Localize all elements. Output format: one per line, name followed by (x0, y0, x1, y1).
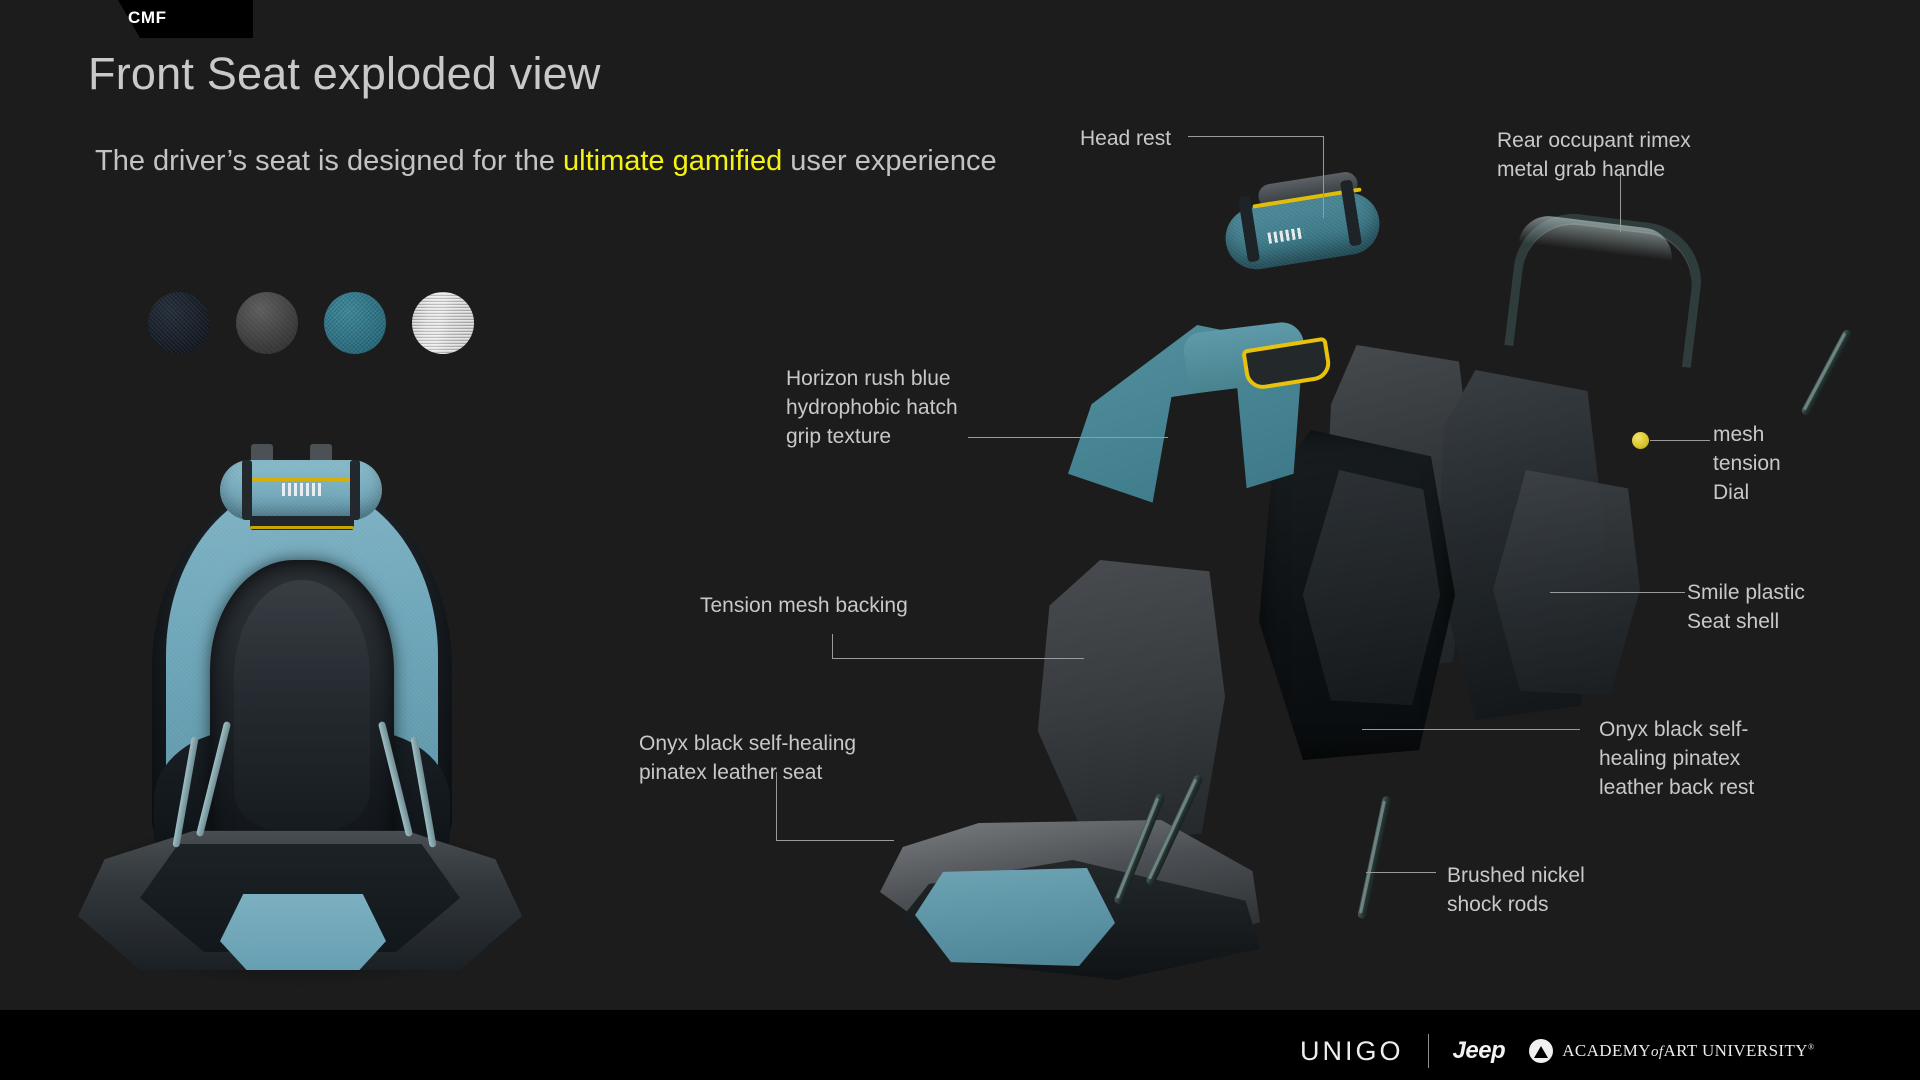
headrest-strap-left (242, 460, 252, 520)
callout-tension-mesh: Tension mesh backing (700, 591, 908, 620)
callout-head-rest: Head rest (1080, 124, 1171, 153)
leader-head-rest-h (1188, 136, 1324, 137)
leader-seat-shell-h (1550, 592, 1685, 593)
front-seat-render (70, 420, 530, 980)
leader-mesh-dial-h (1650, 440, 1710, 441)
callout-mesh-dial: mesh tension Dial (1713, 420, 1781, 507)
swatch-horizon-rush-blue[interactable] (324, 292, 386, 354)
registered-mark: ® (1808, 1042, 1814, 1051)
section-tab-cmf: CMF (128, 8, 167, 28)
leader-leather-back-h (1362, 729, 1580, 730)
callout-shock-rods: Brushed nickel shock rods (1447, 861, 1585, 919)
academy-art-university-word: ART UNIVERSITY (1663, 1041, 1808, 1060)
slide-canvas: CMF Front Seat exploded view The driver’… (0, 0, 1920, 1080)
leader-tension-mesh-h (832, 658, 1084, 659)
nickel-gloss (412, 292, 474, 354)
callout-leather-seat: Onyx black self-healing pinatex leather … (639, 729, 856, 787)
swatch-dark-grey-leather[interactable] (236, 292, 298, 354)
leader-leather-seat-h (776, 840, 894, 841)
headrest-accent-top (250, 478, 354, 481)
seat-base-teal-pad (220, 894, 386, 970)
footer-logos: UNIGO Jeep ACADEMYofART UNIVERSITY® (1300, 1034, 1814, 1068)
callout-leather-back: Onyx black self- healing pinatex leather… (1599, 715, 1754, 802)
callout-hatch-grip: Horizon rush blue hydrophobic hatch grip… (786, 364, 958, 451)
page-title: Front Seat exploded view (88, 48, 601, 100)
triangle-mark-icon (1529, 1039, 1553, 1063)
callout-seat-shell: Smile plastic Seat shell (1687, 578, 1805, 636)
headrest-strap-right (350, 460, 360, 520)
material-swatch-row (148, 292, 474, 354)
subtitle-prefix: The driver’s seat is designed for the (95, 145, 563, 177)
academy-logo-text: ACADEMYofART UNIVERSITY® (1562, 1041, 1814, 1061)
callout-grab-handle: Rear occupant rimex metal grab handle (1497, 126, 1691, 184)
subtitle-highlight: ultimate gamified (563, 145, 782, 177)
unigo-logo: UNIGO (1300, 1036, 1404, 1067)
swatch-brushed-nickel[interactable] (412, 292, 474, 354)
jeep-logo: Jeep (1453, 1037, 1506, 1065)
academy-of-word: of (1651, 1044, 1663, 1060)
subtitle-suffix: user experience (782, 145, 996, 177)
seat-center-inset (234, 580, 370, 830)
swatch-dark-navy-fabric[interactable] (148, 292, 210, 354)
leader-shock-rods-h (1366, 872, 1436, 873)
headrest-hatch-marks (282, 483, 324, 496)
academy-word: ACADEMY (1562, 1041, 1651, 1060)
academy-of-art-university-logo: ACADEMYofART UNIVERSITY® (1529, 1039, 1814, 1063)
leader-tension-mesh-v (832, 634, 833, 659)
headrest-accent-bottom (250, 526, 354, 529)
leader-head-rest-v (1323, 136, 1324, 218)
leader-hatch-grip-h (968, 437, 1168, 438)
page-subtitle: The driver’s seat is designed for the ul… (95, 140, 997, 183)
mesh-tension-dial[interactable] (1632, 432, 1649, 449)
footer-divider (1428, 1034, 1429, 1068)
